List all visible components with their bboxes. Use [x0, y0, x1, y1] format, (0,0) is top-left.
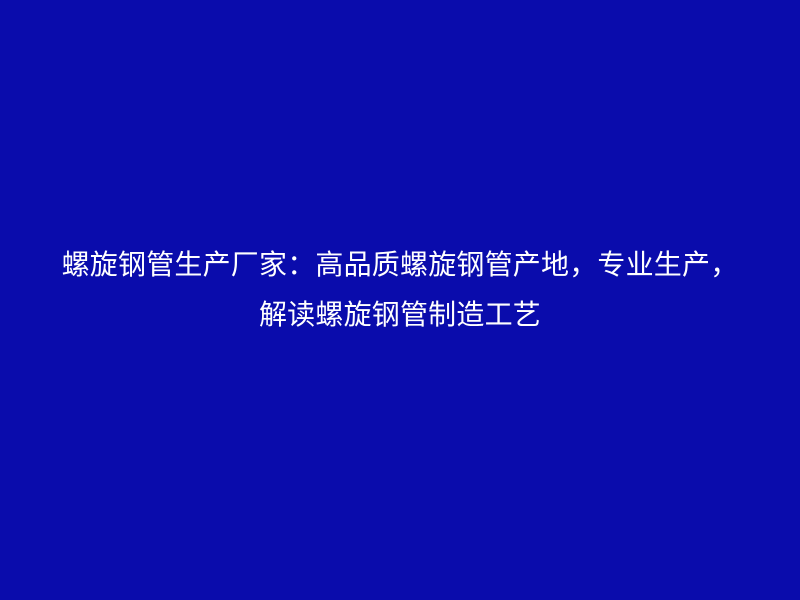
- page-title: 螺旋钢管生产厂家：高品质螺旋钢管产地，专业生产，解读螺旋钢管制造工艺: [50, 240, 750, 340]
- slide-canvas: 螺旋钢管生产厂家：高品质螺旋钢管产地，专业生产，解读螺旋钢管制造工艺: [0, 0, 800, 600]
- headline-block: 螺旋钢管生产厂家：高品质螺旋钢管产地，专业生产，解读螺旋钢管制造工艺: [50, 240, 750, 340]
